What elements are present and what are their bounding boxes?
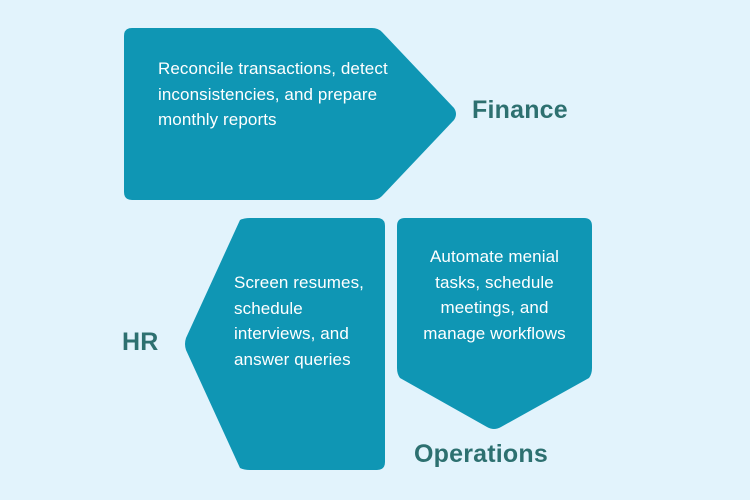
operations-label: Operations <box>414 440 548 469</box>
operations-node[interactable]: Automate menial tasks, schedule meetings… <box>397 218 592 430</box>
finance-body-text: Reconcile transactions, detect inconsist… <box>158 56 398 133</box>
diagram-canvas: Reconcile transactions, detect inconsist… <box>0 0 750 500</box>
operations-body-text: Automate menial tasks, schedule meetings… <box>412 244 577 346</box>
hr-node[interactable]: Screen resumes, schedule interviews, and… <box>184 218 385 470</box>
hr-label: HR <box>122 328 159 357</box>
finance-label: Finance <box>472 96 568 125</box>
hr-body-text: Screen resumes, schedule interviews, and… <box>234 270 382 372</box>
finance-node[interactable]: Reconcile transactions, detect inconsist… <box>124 28 458 200</box>
